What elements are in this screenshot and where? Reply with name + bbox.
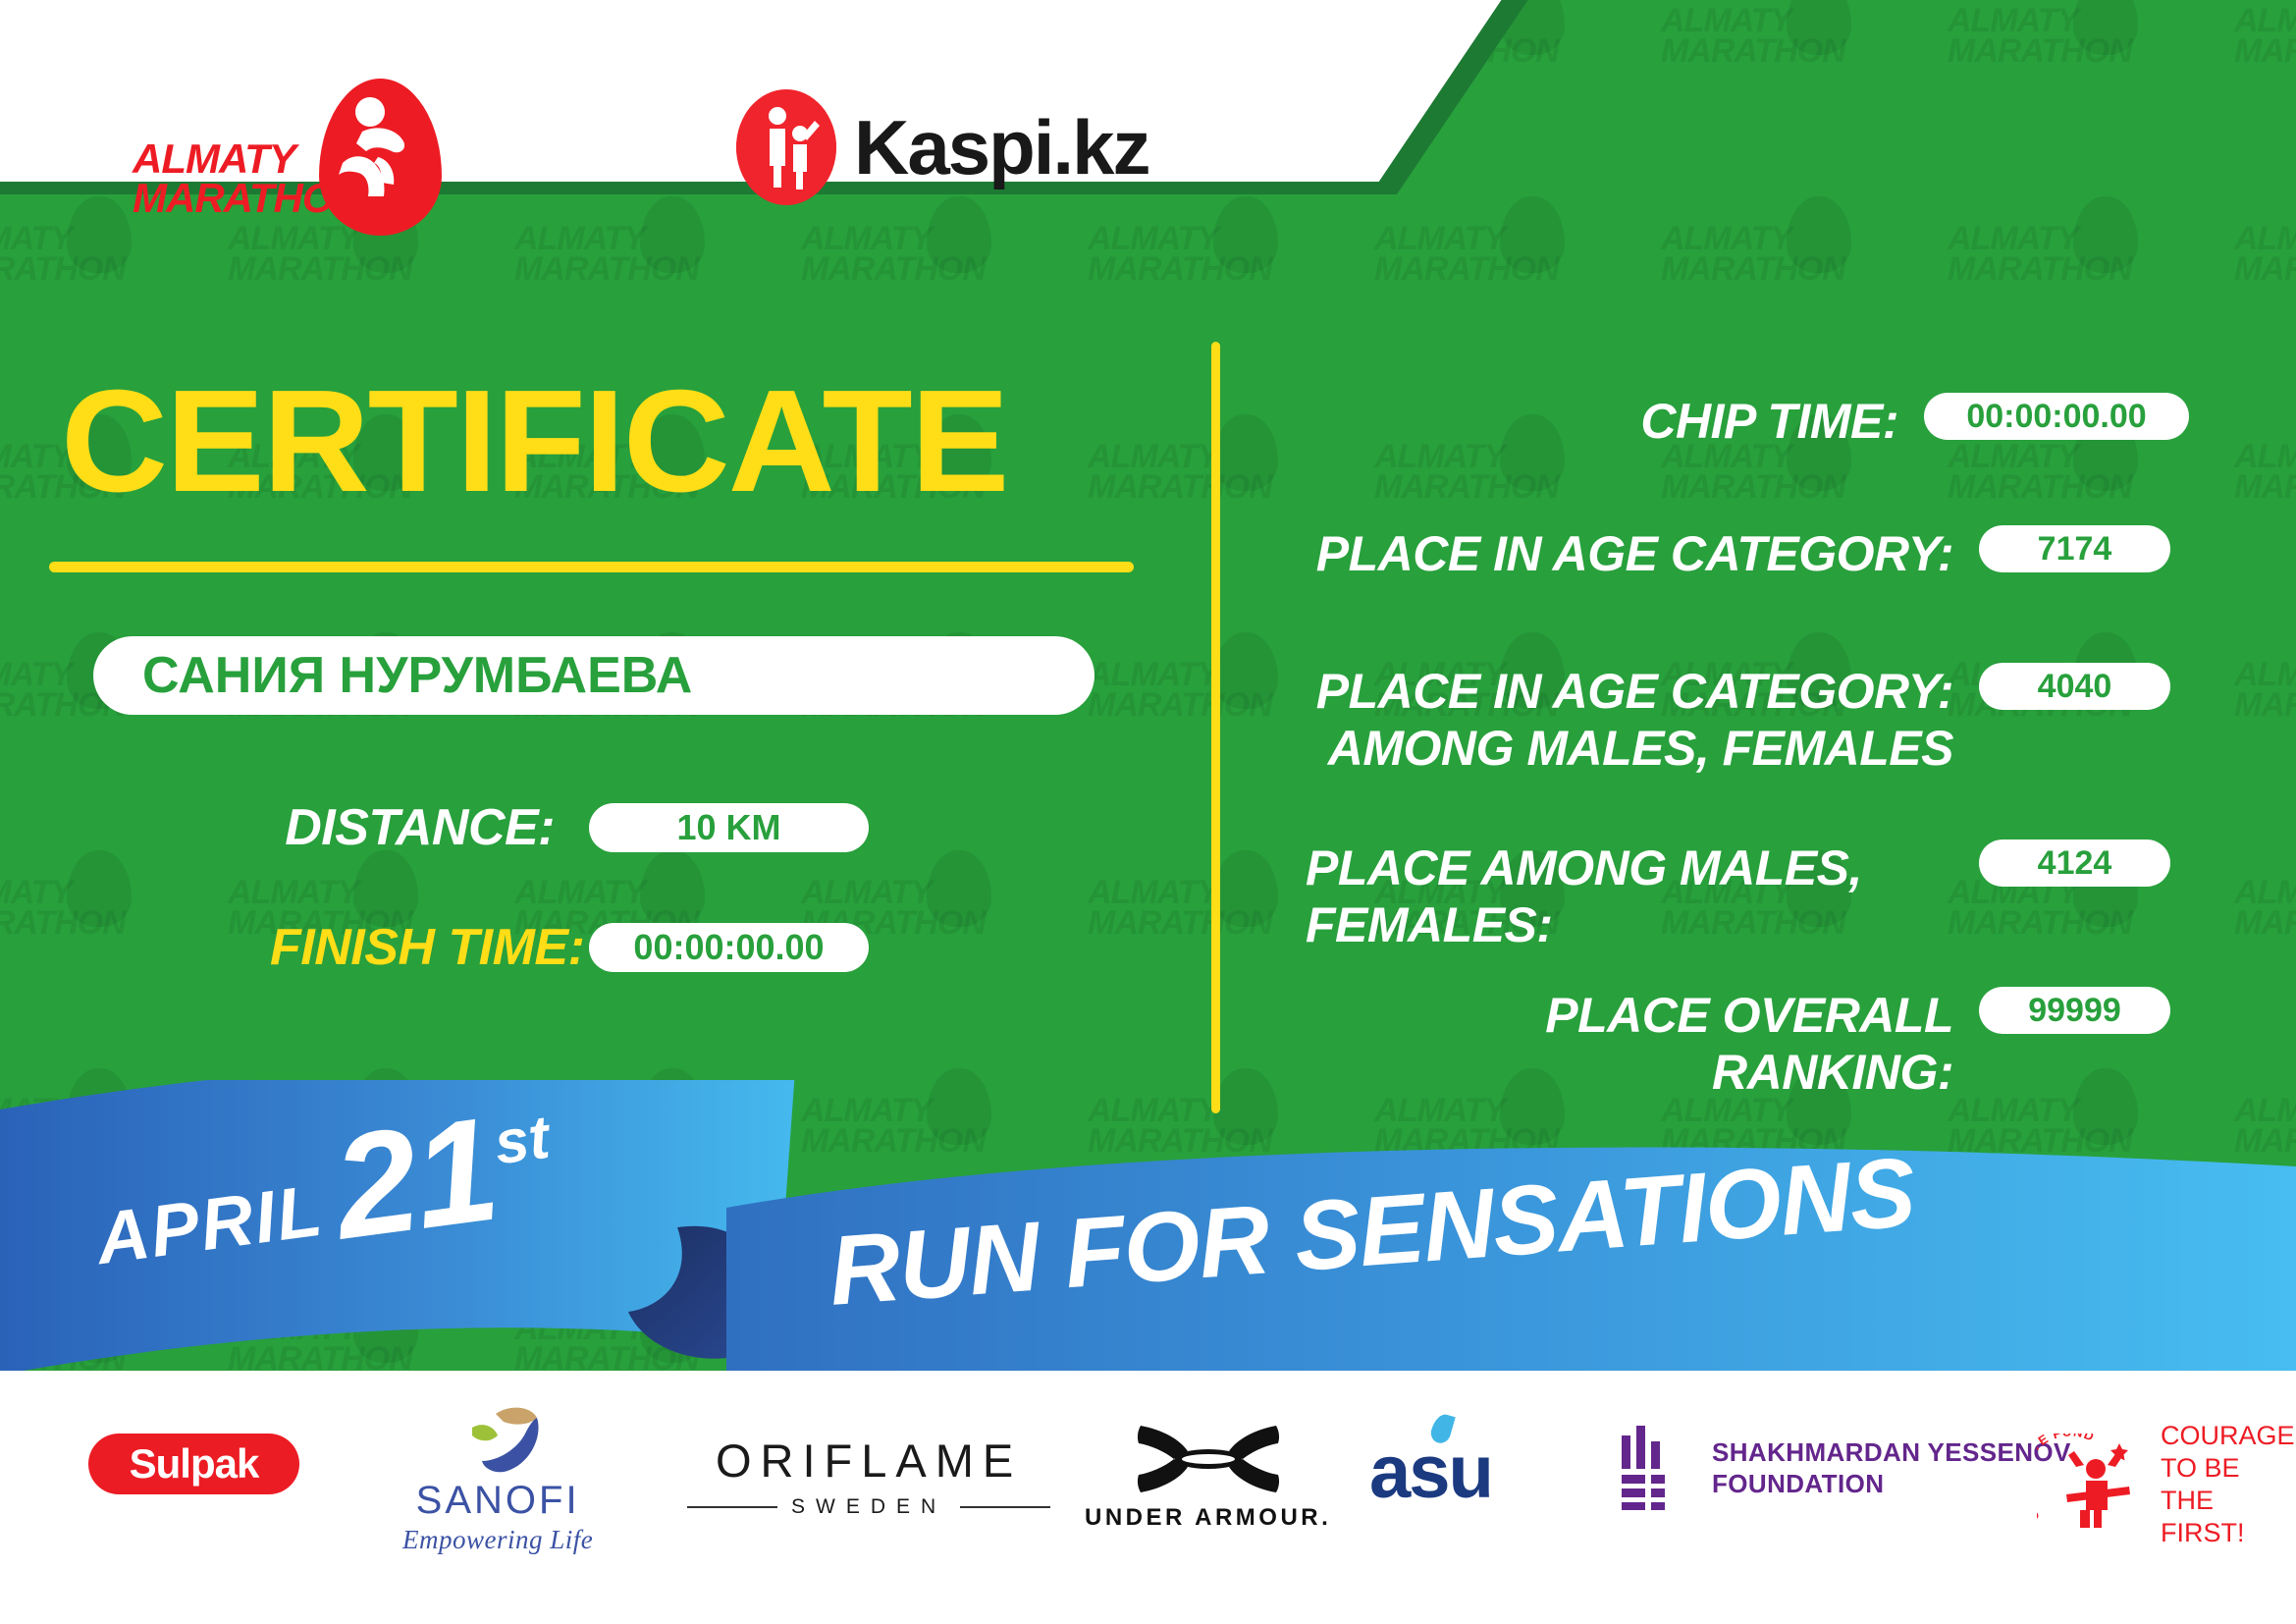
place-age-category-row: PLACE IN AGE CATEGORY: 7174	[1306, 525, 2189, 582]
header-content: ALMATY MARATHON Kaspi.kz	[59, 59, 1360, 241]
place-overall-value: 99999	[1979, 987, 2170, 1034]
asu-text: asu	[1369, 1431, 1492, 1514]
vertical-divider	[1211, 342, 1220, 1113]
divider-line-left	[687, 1506, 777, 1508]
finish-time-label: FINISH TIME:	[270, 918, 555, 977]
chip-time-label: CHIP TIME:	[1306, 393, 1898, 450]
distance-row: DISTANCE: 10 KM	[270, 798, 869, 857]
finish-time-value: 00:00:00.00	[589, 923, 869, 972]
participant-name-field: САНИЯ НУРУМБАЕВА	[93, 636, 1095, 715]
place-age-category-gender-label: PLACE IN AGE CATEGORY: AMONG MALES, FEMA…	[1306, 663, 1953, 777]
sponsor-sulpak: Sulpak	[88, 1434, 299, 1494]
cf-line-1: COURAGE	[2161, 1420, 2296, 1452]
sponsor-under-armour: UNDER ARMOUR.	[1085, 1422, 1331, 1532]
corporate-fund-wordmark: COURAGE TO BE THE FIRST!	[2161, 1420, 2296, 1549]
place-among-gender-label: PLACE AMONG MALES, FEMALES:	[1306, 839, 1953, 953]
oriflame-wordmark: ORIFLAME	[716, 1434, 1022, 1488]
participant-name: САНИЯ НУРУМБАЕВА	[142, 646, 692, 705]
sanofi-mark-icon	[453, 1406, 543, 1477]
kaspi-wordmark: Kaspi.kz	[854, 103, 1148, 192]
certificate-page: ALMATYMARATHONALMATYMARATHONALMATYMARATH…	[0, 0, 2296, 1624]
sanofi-wordmark: SANOFI	[416, 1479, 580, 1523]
yessenov-line-1: SHAKHMARDAN YESSENOV	[1712, 1436, 2071, 1469]
chip-time-row: CHIP TIME: 00:00:00.00	[1306, 393, 2189, 450]
finish-time-row: FINISH TIME: 00:00:00.00	[270, 918, 869, 977]
distance-value: 10 KM	[589, 803, 869, 852]
yessenov-line-2: FOUNDATION	[1712, 1468, 2071, 1500]
kaspi-logo: Kaspi.kz	[736, 93, 1148, 201]
sanofi-tagline: Empowering Life	[402, 1525, 593, 1555]
sponsor-bar: Sulpak SANOFI Empowering Life ORIFLAME S…	[0, 1404, 2296, 1591]
label-line-1: PLACE IN AGE CATEGORY:	[1306, 663, 1953, 720]
place-age-category-gender-row: PLACE IN AGE CATEGORY: AMONG MALES, FEMA…	[1306, 663, 2189, 777]
oriflame-sub: SWEDEN	[687, 1495, 1050, 1519]
almaty-line: ALMATY	[133, 139, 362, 179]
place-among-gender-row: PLACE AMONG MALES, FEMALES: 4124	[1306, 839, 2189, 953]
oriflame-country: SWEDEN	[791, 1495, 946, 1519]
sponsor-asu: asu	[1369, 1430, 1492, 1515]
label-line-2: FEMALES:	[1306, 896, 1953, 953]
place-age-category-value: 7174	[1979, 525, 2170, 572]
cf-line-3: THE FIRST!	[2161, 1485, 2296, 1549]
marathon-line: MARATHON	[133, 179, 362, 218]
sponsor-sanofi: SANOFI Empowering Life	[402, 1406, 593, 1555]
distance-label: DISTANCE:	[270, 798, 555, 857]
asu-wordmark: asu	[1369, 1430, 1492, 1515]
place-age-category-gender-value: 4040	[1979, 663, 2170, 710]
sponsor-yessenov-foundation: SHAKHMARDAN YESSENOV FOUNDATION	[1620, 1426, 2071, 1510]
cf-line-2: TO BE	[2161, 1452, 2296, 1485]
event-day: 21	[327, 1103, 503, 1255]
certificate-title: CERTIFICATE	[61, 369, 1007, 514]
place-among-gender-value: 4124	[1979, 839, 2170, 887]
yessenov-bars-icon	[1620, 1426, 1686, 1510]
sponsor-oriflame: ORIFLAME SWEDEN	[687, 1434, 1050, 1519]
yessenov-wordmark: SHAKHMARDAN YESSENOV FOUNDATION	[1712, 1436, 2071, 1500]
label-line-1: PLACE AMONG MALES,	[1306, 839, 1953, 896]
almaty-marathon-logo: ALMATY MARATHON	[133, 79, 456, 211]
under-armour-icon	[1135, 1422, 1282, 1496]
kaspi-mark-icon	[736, 89, 836, 205]
chip-time-value: 00:00:00.00	[1924, 393, 2189, 440]
corporate-fund-icon: CORPORATE FUND	[2037, 1434, 2145, 1536]
event-day-ordinal: st	[491, 1103, 554, 1179]
divider-line-right	[960, 1506, 1050, 1508]
place-age-category-label: PLACE IN AGE CATEGORY:	[1306, 525, 1953, 582]
label-line-2: AMONG MALES, FEMALES	[1306, 720, 1953, 777]
title-underline	[49, 562, 1134, 572]
almaty-marathon-wordmark: ALMATY MARATHON	[133, 139, 362, 219]
sulpak-label: Sulpak	[88, 1434, 299, 1494]
under-armour-wordmark: UNDER ARMOUR.	[1085, 1504, 1331, 1532]
sponsor-corporate-fund: CORPORATE FUND COURAGE TO BE THE FIRST!	[2037, 1420, 2296, 1549]
